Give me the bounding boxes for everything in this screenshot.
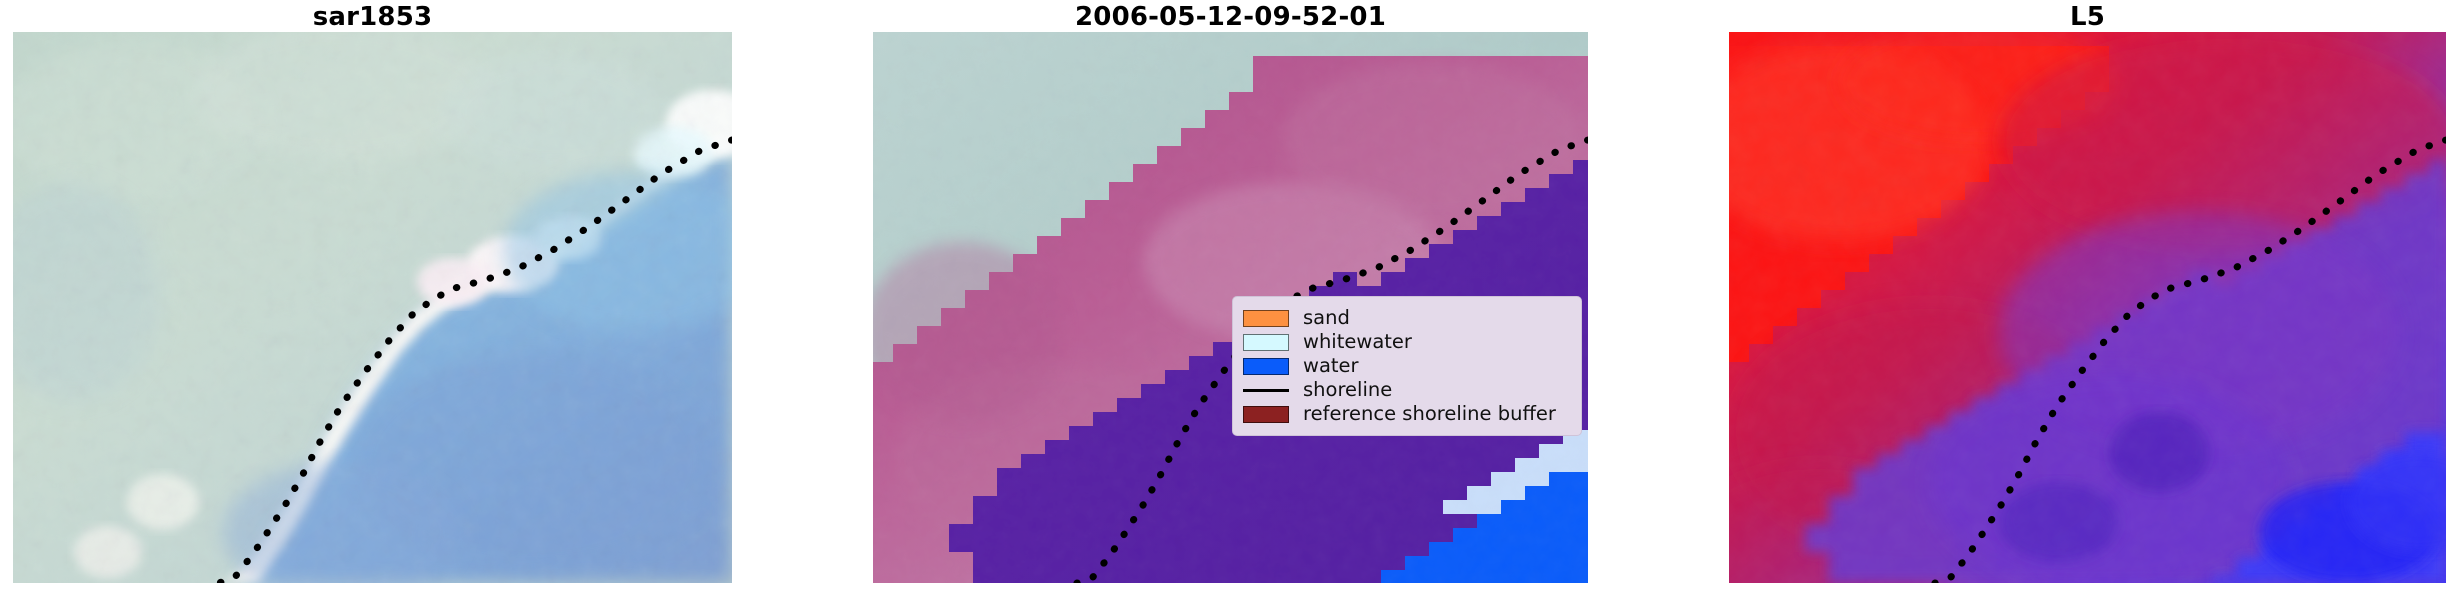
panel-2-title: 2006-05-12-09-52-01 <box>873 2 1588 32</box>
panel-3-title: L5 <box>1729 2 2446 32</box>
panel-1-title: sar1853 <box>13 2 732 32</box>
legend-item-sand: sand <box>1243 306 1570 330</box>
sand-swatch <box>1243 310 1289 327</box>
legend-label-whitewater: whitewater <box>1303 331 1412 353</box>
legend-label-sand: sand <box>1303 307 1350 329</box>
panel-sar1853: sar1853 <box>13 0 732 604</box>
panel-L5: L5 <box>1729 0 2446 604</box>
panel-1-image <box>13 32 732 583</box>
legend-item-whitewater: whitewater <box>1243 330 1570 354</box>
legend-label-water: water <box>1303 355 1359 377</box>
legend-label-reference-shoreline-buffer: reference shoreline buffer <box>1303 403 1556 425</box>
reference-shoreline-buffer-swatch <box>1243 406 1289 423</box>
legend-item-reference-shoreline-buffer: reference shoreline buffer <box>1243 402 1570 426</box>
panel-1-raster <box>13 32 732 583</box>
legend-box: sand whitewater water shoreline referenc… <box>1232 296 1582 436</box>
panel-3-image <box>1729 32 2446 583</box>
shoreline-line-swatch <box>1243 382 1289 399</box>
legend-item-shoreline: shoreline <box>1243 378 1570 402</box>
whitewater-swatch <box>1243 334 1289 351</box>
water-swatch <box>1243 358 1289 375</box>
panel-classification-overlay: 2006-05-12-09-52-01 <box>873 0 1588 604</box>
panel-3-raster <box>1729 32 2446 583</box>
legend-item-water: water <box>1243 354 1570 378</box>
legend-label-shoreline: shoreline <box>1303 379 1392 401</box>
figure-canvas: sar1853 <box>0 0 2460 604</box>
